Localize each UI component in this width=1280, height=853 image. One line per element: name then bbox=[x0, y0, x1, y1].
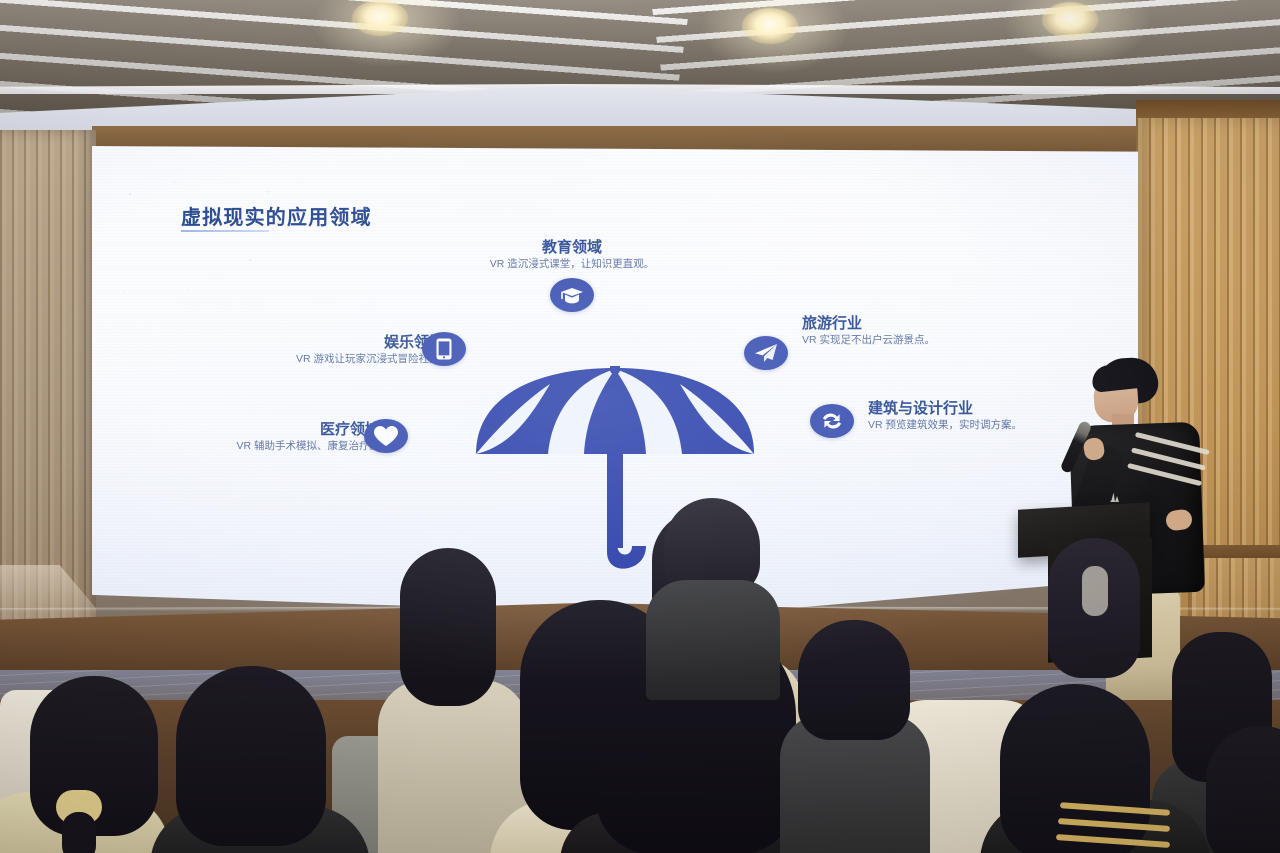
node-tourism[interactable]: 旅游行业 VR 实现足不出户云游景点。 bbox=[802, 312, 1072, 348]
node-tourism-badge bbox=[744, 336, 788, 370]
node-medical-badge bbox=[364, 419, 408, 453]
node-entertainment-title: 娱乐领域 bbox=[220, 331, 444, 352]
node-education-title: 教育领域 bbox=[452, 236, 692, 257]
audience-head bbox=[176, 666, 326, 846]
sync-refresh-icon bbox=[810, 404, 854, 438]
paper-plane-icon bbox=[744, 336, 788, 370]
slide-content: 虚拟现实的应用领域 教育领域 VR 造沉浸式课 bbox=[92, 146, 1138, 616]
node-tourism-title: 旅游行业 bbox=[802, 312, 1072, 333]
node-architecture-badge bbox=[810, 404, 854, 438]
lecture-hall-scene: 虚拟现实的应用领域 教育领域 VR 造沉浸式课 bbox=[0, 0, 1280, 853]
slide-title: 虚拟现实的应用领域 bbox=[181, 201, 372, 230]
tablet-icon bbox=[422, 332, 466, 366]
audience-head bbox=[400, 548, 496, 706]
node-medical-title: 医疗领域 bbox=[130, 418, 380, 439]
node-education-desc: VR 造沉浸式课堂，让知识更直观。 bbox=[452, 257, 692, 272]
ceiling-downlight bbox=[352, 0, 408, 36]
hair-clip bbox=[1082, 566, 1108, 616]
node-entertainment-badge bbox=[422, 332, 466, 366]
node-education[interactable]: 教育领域 VR 造沉浸式课堂，让知识更直观。 bbox=[452, 236, 692, 312]
heart-icon bbox=[364, 419, 408, 453]
node-medical[interactable]: 医疗领域 VR 辅助手术模拟、康复治疗。 bbox=[130, 418, 380, 454]
audience-ponytail bbox=[62, 812, 96, 853]
node-entertainment[interactable]: 娱乐领域 VR 游戏让玩家沉浸式冒险社交。 bbox=[220, 331, 450, 367]
graduation-cap-icon bbox=[550, 278, 594, 312]
node-medical-desc: VR 辅助手术模拟、康复治疗。 bbox=[130, 439, 380, 454]
audience-coat bbox=[646, 580, 780, 700]
ceiling-downlight bbox=[742, 8, 798, 44]
node-tourism-desc: VR 实现足不出户云游景点。 bbox=[802, 333, 1072, 348]
wall-left-wood-slats bbox=[0, 130, 96, 690]
slide-title-underline bbox=[181, 230, 269, 232]
node-entertainment-desc: VR 游戏让玩家沉浸式冒险社交。 bbox=[220, 352, 450, 367]
audience-head bbox=[798, 620, 910, 740]
ceiling-downlight bbox=[1042, 2, 1098, 38]
presentation-screen[interactable]: 虚拟现实的应用领域 教育领域 VR 造沉浸式课 bbox=[92, 146, 1138, 616]
wall-left-panel-notch bbox=[0, 565, 96, 625]
audience-head bbox=[1206, 726, 1280, 853]
